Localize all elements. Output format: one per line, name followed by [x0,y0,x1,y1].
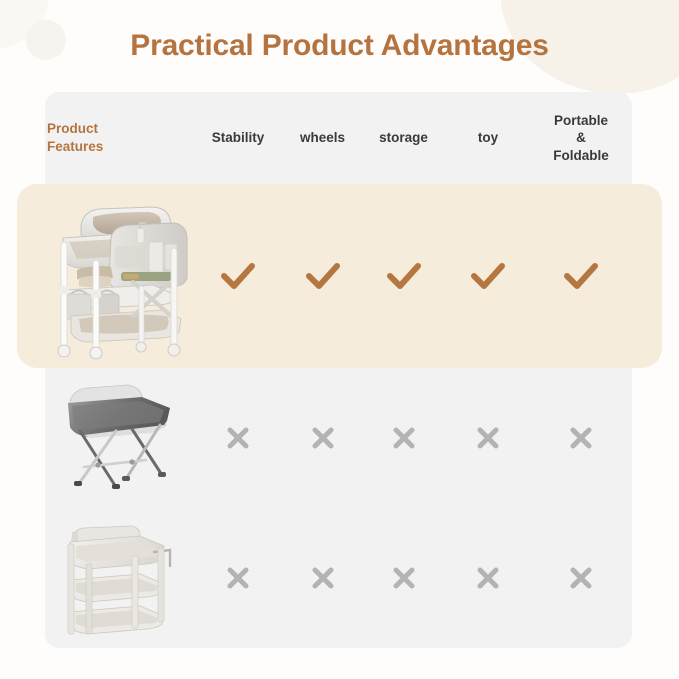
mark-row1-toy [446,184,530,368]
check-icon [220,261,256,291]
check-icon [470,261,506,291]
cross-icon [568,565,594,591]
cross-icon [568,425,594,451]
page-title: Practical Product Advantages [0,29,679,63]
column-header-stability-label: Stability [212,129,265,147]
infographic-page: Practical Product Advantages Product Fea… [0,0,679,679]
comparison-table: Product Features Stability wheels storag… [45,92,632,648]
portable-foldable-line2: & [553,129,609,146]
column-header-storage-label: storage [379,129,428,147]
column-header-wheels: wheels [284,92,361,184]
portable-foldable-line3: Foldable [553,147,609,164]
cross-icon [310,565,336,591]
product-image-wooden-three-tier-changing-table [45,508,192,648]
mark-row2-stability [192,368,284,508]
folding-metal-changing-table-illustration [54,375,184,501]
mark-row3-storage [361,508,446,648]
cross-icon [391,425,417,451]
mark-row3-portable-foldable [530,508,632,648]
mark-row1-stability [192,184,284,368]
cross-icon [225,425,251,451]
column-header-wheels-label: wheels [300,129,345,147]
mark-row2-portable-foldable [530,368,632,508]
mark-row2-wheels [284,368,361,508]
mark-row1-wheels [284,184,361,368]
cross-icon [391,565,417,591]
column-header-stability: Stability [192,92,284,184]
mark-row3-toy [446,508,530,648]
mark-row3-wheels [284,508,361,648]
mark-row2-toy [446,368,530,508]
cross-icon [310,425,336,451]
product-image-folding-metal-changing-table [45,368,192,508]
check-icon [305,261,341,291]
mark-row1-storage [361,184,446,368]
product-image-multi-tier-changing-station [45,184,192,368]
cross-icon [475,425,501,451]
cross-icon [225,565,251,591]
mark-row3-stability [192,508,284,648]
wooden-three-tier-changing-table-illustration [54,518,184,638]
column-header-portable-foldable: Portable & Foldable [530,92,632,184]
portable-foldable-line1: Portable [553,112,609,129]
column-header-storage: storage [361,92,446,184]
product-features-line2: Features [47,138,103,156]
multi-tier-changing-station-illustration [49,190,189,362]
cross-icon [475,565,501,591]
check-icon [386,261,422,291]
check-icon [563,261,599,291]
column-header-product-features: Product Features [45,92,192,184]
product-features-line1: Product [47,120,103,138]
mark-row2-storage [361,368,446,508]
column-header-toy: toy [446,92,530,184]
mark-row1-portable-foldable [530,184,632,368]
column-header-toy-label: toy [478,129,498,147]
